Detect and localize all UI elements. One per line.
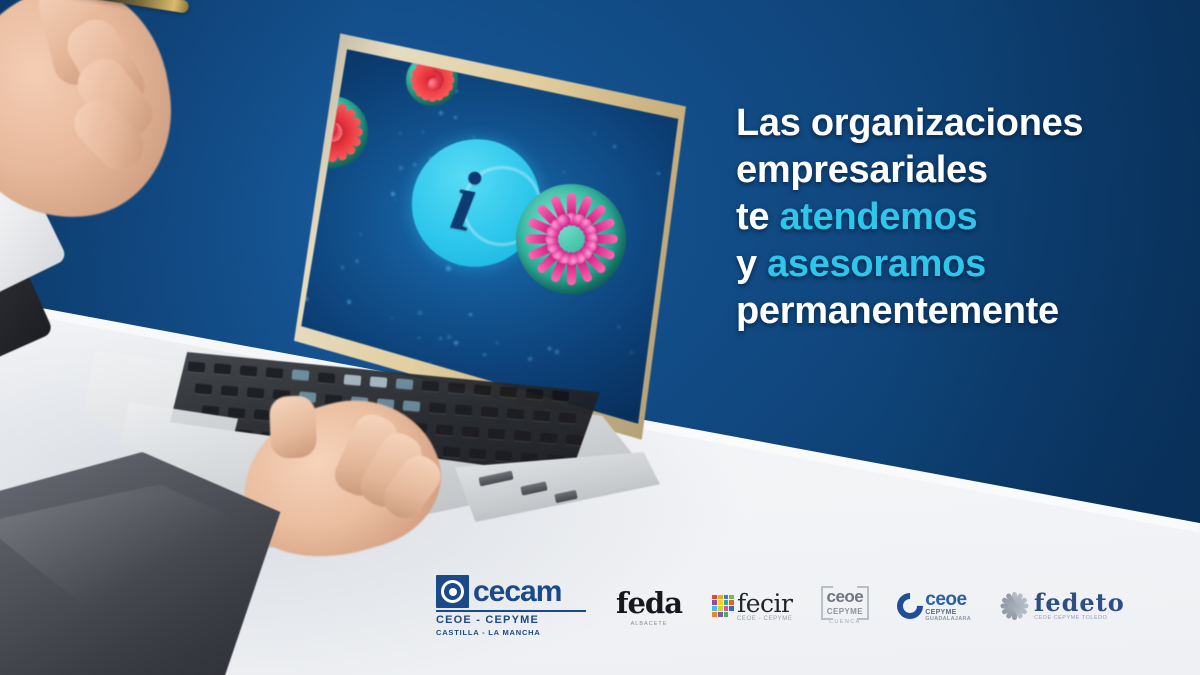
banner-image: i Las organi [0, 0, 1200, 675]
fecir-subtitle: CEOE - CEPYME [737, 616, 793, 622]
headline-line-3: te atendemos [736, 194, 1166, 241]
bracket-left-icon [821, 586, 833, 620]
ceoe-c-icon [892, 588, 929, 625]
feda-wordmark: feda [616, 586, 682, 620]
headline-line-5: permanentemente [736, 288, 1166, 335]
cecam-gear-icon [436, 575, 469, 608]
fedeto-wordmark: fedeto [1034, 591, 1125, 615]
headline-line-4-prefix: y [736, 243, 767, 285]
logo-bar: cecam CEOE - CEPYME CASTILLA - LA MANCHA… [436, 575, 1125, 637]
feda-subtitle: ALBACETE [631, 621, 668, 627]
cecam-subtitle: CEOE - CEPYME [436, 614, 539, 626]
logo-ceoe-guadalajara: ceoe CEPYME GUADALAJARA [897, 590, 971, 622]
hand-with-pen [0, 0, 250, 300]
headline-line-2: empresariales [736, 147, 1166, 194]
logo-cecam: cecam CEOE - CEPYME CASTILLA - LA MANCHA [436, 575, 586, 637]
logo-feda: feda ALBACETE [616, 586, 682, 627]
guadalajara-wordmark: ceoe [925, 590, 971, 609]
headline-line-3-highlight: atendemos [779, 196, 977, 238]
guadalajara-region: GUADALAJARA [925, 616, 971, 622]
headline-line-3-prefix: te [736, 196, 779, 238]
headline-line-4: y asesoramos [736, 241, 1166, 288]
fecir-mosaic-icon [712, 595, 734, 617]
cecam-wordmark: cecam [473, 577, 561, 607]
fedeto-subtitle: CEOE CEPYME TOLEDO [1034, 615, 1125, 621]
cecam-region: CASTILLA - LA MANCHA [436, 628, 541, 637]
guadalajara-subtitle: CEPYME [925, 609, 971, 616]
fedeto-star-icon [999, 591, 1029, 621]
finger [269, 395, 317, 459]
headline: Las organizaciones empresariales te aten… [736, 100, 1166, 335]
cuenca-region: CUENCA [829, 619, 861, 625]
headline-line-4-highlight: asesoramos [767, 243, 986, 285]
logo-ceoe-cuenca: ceoe CEPYME CUENCA [821, 584, 870, 628]
typing-arm [0, 392, 460, 675]
logo-fecir: fecir CEOE - CEPYME [712, 591, 793, 622]
cecam-rule [436, 610, 586, 612]
headline-line-1: Las organizaciones [736, 100, 1166, 147]
fecir-wordmark: fecir [737, 591, 793, 616]
bracket-right-icon [857, 586, 869, 620]
logo-fedeto: fedeto CEOE CEPYME TOLEDO [999, 591, 1125, 621]
